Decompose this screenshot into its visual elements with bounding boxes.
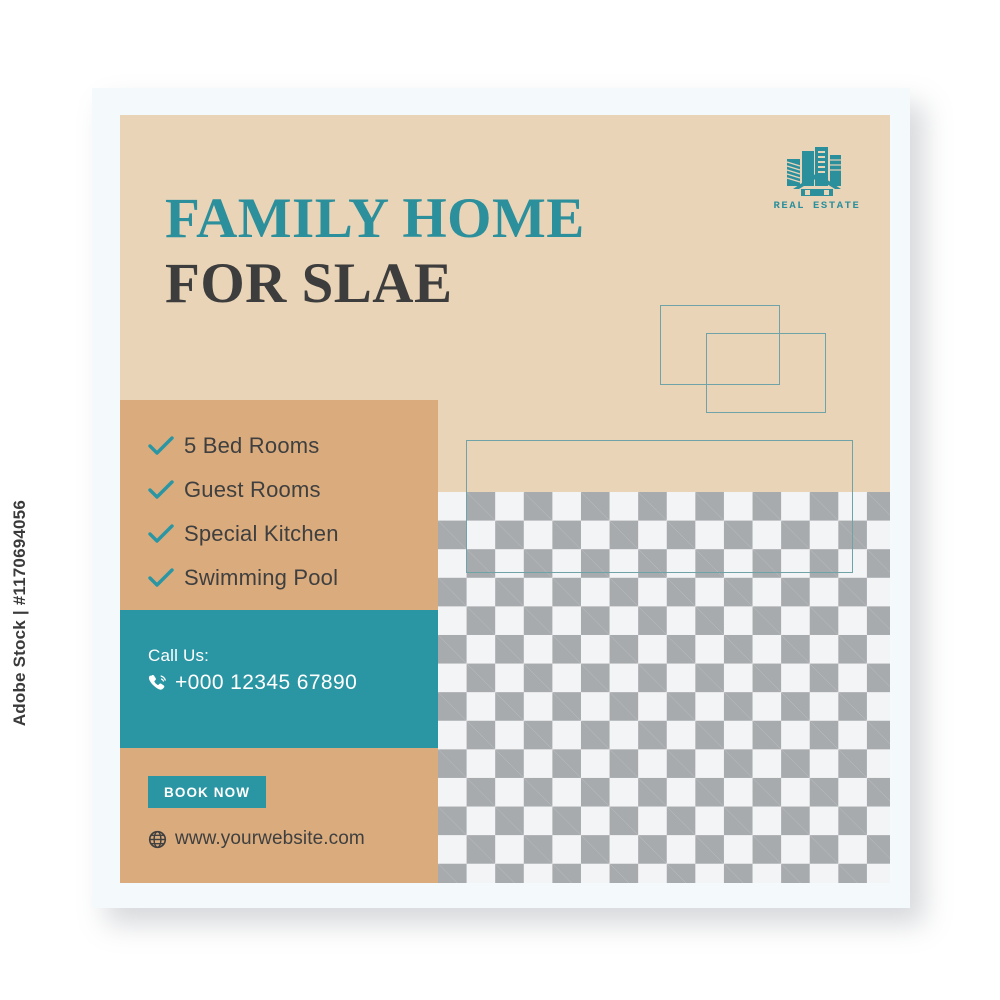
buildings-icon [764,145,870,197]
feature-label: Guest Rooms [184,477,321,503]
feature-item: Swimming Pool [148,556,438,600]
check-icon [148,523,174,545]
feature-item: 5 Bed Rooms [148,424,438,468]
headline-primary: FAMILY HOME [165,190,705,248]
features-panel: 5 Bed Rooms Guest Rooms Special Kitchen [120,400,438,610]
check-icon [148,567,174,589]
poster-canvas: REAL ESTATE FAMILY HOME FOR SLAE 5 Bed R… [120,115,890,883]
decorative-rectangle-2 [706,333,826,413]
website-row[interactable]: www.yourwebsite.com [148,828,438,850]
brand-logo: REAL ESTATE [764,145,870,212]
feature-label: Swimming Pool [184,565,338,591]
phone-icon [148,673,168,693]
feature-label: 5 Bed Rooms [184,433,320,459]
globe-icon [148,830,167,849]
website-url: www.yourwebsite.com [175,828,365,850]
cta-panel: BOOK NOW www.yourwebsite.com [120,748,438,883]
book-now-button[interactable]: BOOK NOW [148,776,266,808]
feature-item: Guest Rooms [148,468,438,512]
headline-secondary: FOR SLAE [165,254,705,314]
feature-label: Special Kitchen [184,521,339,547]
call-us-label: Call Us: [148,646,438,666]
feature-item: Special Kitchen [148,512,438,556]
decorative-rectangle-3 [466,440,853,573]
phone-number: +000 12345 67890 [175,671,357,695]
phone-row[interactable]: +000 12345 67890 [148,671,438,695]
headline-block: FAMILY HOME FOR SLAE [165,190,705,314]
logo-text: REAL ESTATE [764,200,870,212]
contact-panel: Call Us: +000 12345 67890 [120,610,438,748]
check-icon [148,479,174,501]
stock-watermark-id: Adobe Stock | #1170694056 [10,500,30,726]
check-icon [148,435,174,457]
